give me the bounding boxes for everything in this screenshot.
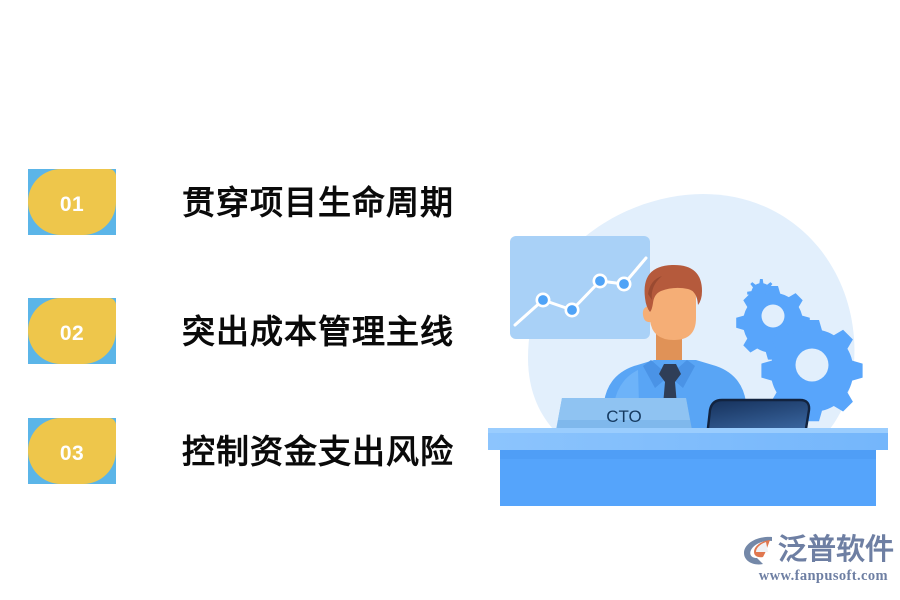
nameplate-label: CTO <box>606 407 642 426</box>
watermark-logo: 泛普软件 www.fanpusoft.com <box>742 530 888 592</box>
feature-item[interactable]: 03 控制资金支出风险 <box>28 417 488 485</box>
brand-mark-icon <box>742 533 776 567</box>
cto-nameplate: CTO <box>556 398 692 430</box>
step-badge-01: 01 <box>28 169 116 235</box>
cto-at-desk-illustration: CTO <box>488 188 888 508</box>
brand-url: www.fanpusoft.com <box>742 568 888 585</box>
feature-item[interactable]: 02 突出成本管理主线 <box>28 297 488 365</box>
feature-list: 01 贯穿项目生命周期 02 突出成本管理主线 03 控制资金支出风险 <box>0 0 500 600</box>
desk <box>488 428 888 506</box>
feature-label: 贯穿项目生命周期 <box>182 186 454 219</box>
step-badge-03: 03 <box>28 418 116 484</box>
badge-number: 01 <box>28 169 116 235</box>
feature-label: 突出成本管理主线 <box>182 315 454 348</box>
feature-label: 控制资金支出风险 <box>182 435 454 468</box>
brand-name: 泛普软件 <box>778 536 894 565</box>
badge-number: 03 <box>28 418 116 484</box>
badge-number: 02 <box>28 298 116 364</box>
step-badge-02: 02 <box>28 298 116 364</box>
line-chart-board <box>510 236 650 339</box>
feature-item[interactable]: 01 贯穿项目生命周期 <box>28 168 488 236</box>
